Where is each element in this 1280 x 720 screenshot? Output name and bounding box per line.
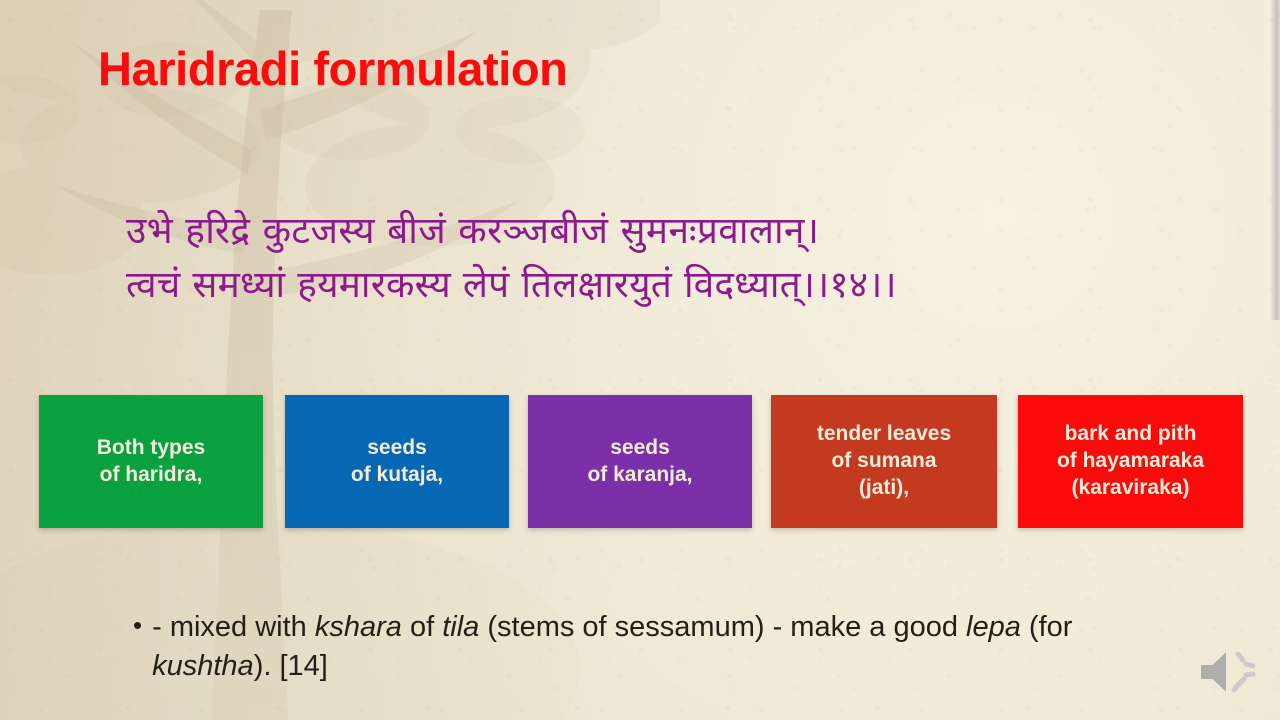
bullet-dot-icon: • — [133, 608, 142, 644]
ingredient-box-kutaja[interactable]: seeds of kutaja, — [285, 395, 509, 528]
speaker-icon[interactable] — [1196, 645, 1262, 699]
ingredient-box-label: tender leaves of sumana (jati), — [817, 421, 951, 502]
bullet-item-text: - mixed with kshara of tila (stems of se… — [152, 608, 1133, 685]
italic-term: tila — [442, 611, 479, 643]
ingredient-box-label: bark and pith of hayamaraka (karaviraka) — [1057, 421, 1204, 502]
verse-line-1: उभे हरिद्रे कुटजस्य बीजं करञ्जबीजं सुमनः… — [126, 204, 1266, 258]
italic-term: lepa — [966, 611, 1021, 643]
ingredient-box-label: Both types of haridra, — [97, 435, 206, 489]
sanskrit-verse: उभे हरिद्रे कुटजस्य बीजं करञ्जबीजं सुमनः… — [126, 204, 1266, 311]
ingredient-box-sumana[interactable]: tender leaves of sumana (jati), — [771, 395, 997, 528]
page-title: Haridradi formulation — [98, 41, 567, 96]
list-item: • - mixed with kshara of tila (stems of … — [133, 608, 1133, 685]
text-run: (stems of sessamum) - make a good — [479, 611, 966, 643]
background-right-edge — [1270, 0, 1280, 320]
ingredient-box-hayamaraka[interactable]: bark and pith of hayamaraka (karaviraka) — [1018, 395, 1243, 528]
bullet-list: • - mixed with kshara of tila (stems of … — [133, 608, 1133, 685]
ingredient-box-haridra[interactable]: Both types of haridra, — [39, 395, 263, 528]
ingredient-box-label: seeds of kutaja, — [351, 435, 443, 489]
italic-term: kushtha — [152, 650, 254, 682]
text-run: of — [402, 611, 442, 643]
italic-term: kshara — [315, 611, 402, 643]
ingredient-box-karanja[interactable]: seeds of karanja, — [528, 395, 752, 528]
slide: Haridradi formulation उभे हरिद्रे कुटजस्… — [0, 0, 1280, 720]
text-run: ). [14] — [254, 650, 328, 682]
ingredient-box-label: seeds of karanja, — [587, 435, 692, 489]
ingredient-box-row: Both types of haridra, seeds of kutaja, … — [39, 395, 1243, 528]
text-run: (for — [1021, 611, 1073, 643]
verse-line-2: त्वचं समध्यां हयमारकस्य लेपं तिलक्षारयुत… — [126, 258, 1266, 312]
text-run: - mixed with — [152, 611, 315, 643]
